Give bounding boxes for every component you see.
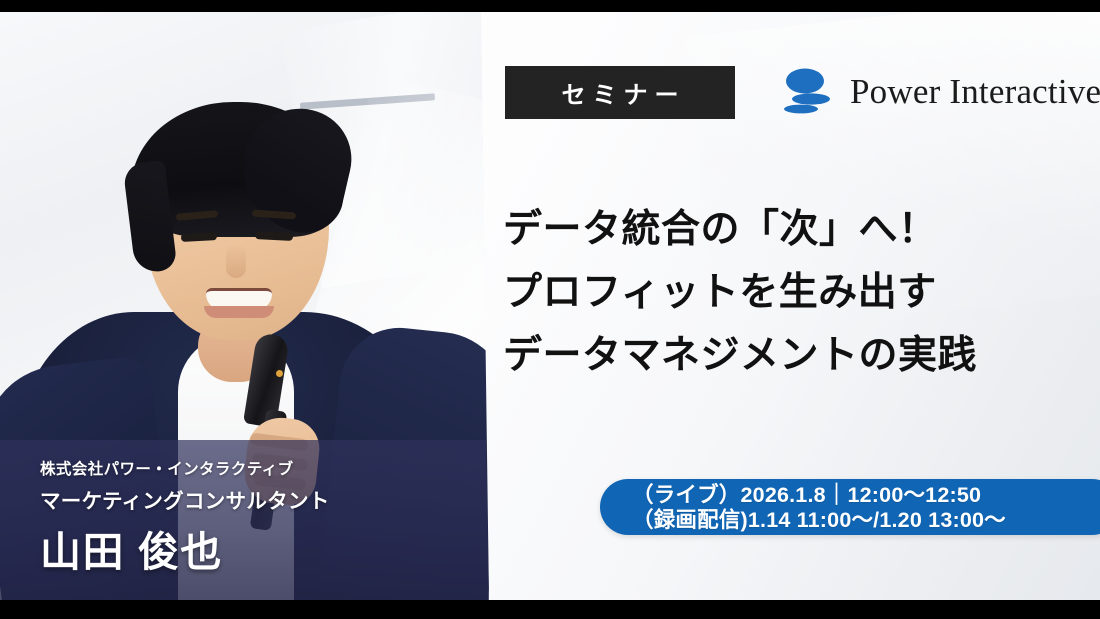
letterbox-bottom <box>0 600 1100 619</box>
presenter-company: 株式会社パワー・インタラクティブ <box>40 457 293 479</box>
presenter-lower-lip <box>204 306 274 318</box>
headline-line-3: データマネジメントの実践 <box>503 324 1083 387</box>
headline-line-2: プロフィットを生み出す <box>503 261 1083 324</box>
headline: データ統合の「次」へ！ プロフィットを生み出す データマネジメントの実践 <box>503 198 1083 387</box>
presenter-nose <box>226 244 246 278</box>
seminar-badge: セミナー <box>505 66 735 119</box>
brand-wordmark: Power Interactive <box>850 72 1100 112</box>
microphone-indicator <box>276 370 283 377</box>
schedule-text: （ライブ）2026.1.8｜12:00〜12:50 （録画配信)1.14 11:… <box>632 483 1100 532</box>
letterbox-top <box>0 0 1100 12</box>
seminar-promo-slide: 株式会社パワー・インタラクティブ マーケティングコンサルタント 山田 俊也 セミ… <box>0 0 1100 619</box>
presenter-role: マーケティングコンサルタント <box>40 484 330 514</box>
power-interactive-mark-icon <box>778 68 840 116</box>
seminar-badge-label: セミナー <box>555 75 686 110</box>
schedule-replay-line: （録画配信)1.14 11:00〜/1.20 13:00〜 <box>632 508 1100 533</box>
headline-line-1: データ統合の「次」へ！ <box>503 198 1083 261</box>
presenter-name: 山田 俊也 <box>40 518 223 578</box>
brand-logo: Power Interactive <box>778 63 1068 121</box>
presenter-caption: 株式会社パワー・インタラクティブ マーケティングコンサルタント 山田 俊也 <box>0 440 492 600</box>
schedule-live-line: （ライブ）2026.1.8｜12:00〜12:50 <box>632 483 1100 508</box>
